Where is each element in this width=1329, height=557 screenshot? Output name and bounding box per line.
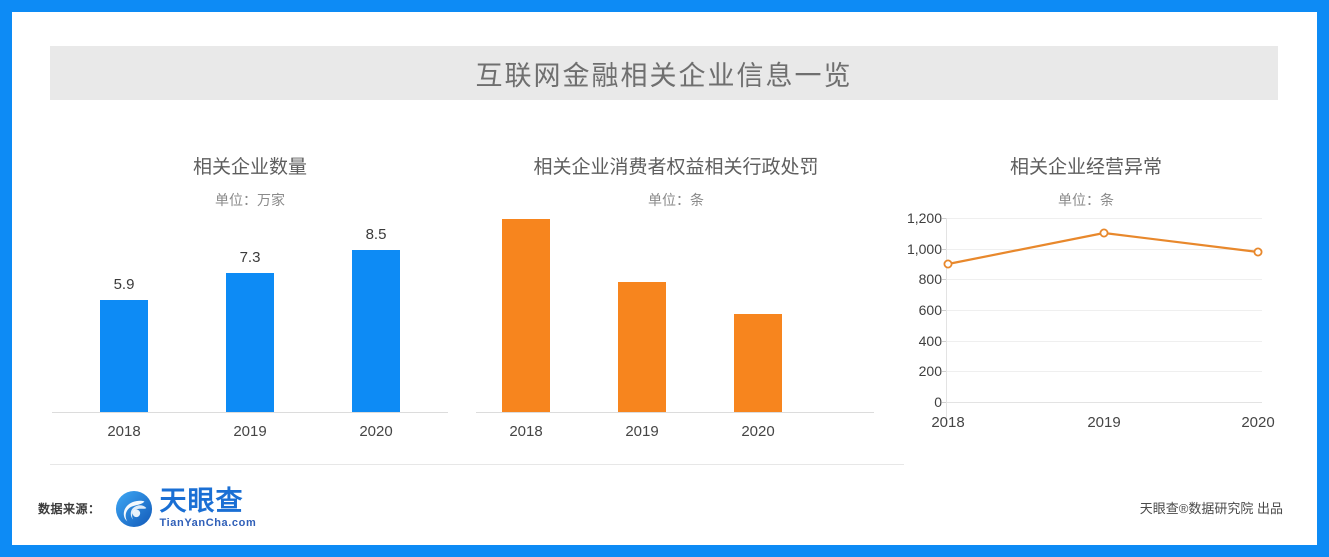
chart-1-x-label-2020: 2020	[346, 423, 406, 440]
source-label: 数据来源：	[38, 500, 101, 517]
frame-border-right	[1317, 0, 1329, 557]
chart-1-subtitle: 单位：万家	[34, 190, 466, 210]
frame-border-top	[0, 0, 1329, 12]
chart-2-subtitle: 单位：条	[466, 190, 886, 210]
chart-1-bar-2020[interactable]	[352, 250, 400, 412]
chart-2-x-label-2019: 2019	[612, 423, 672, 440]
chart-1-x-label-2019: 2019	[220, 423, 280, 440]
frame-border-bottom	[0, 545, 1329, 557]
footer: 数据来源：	[12, 480, 1317, 535]
chart-panel-enterprise-count: 相关企业数量 单位：万家 5.9 7.3 8.5 2018 2019 2020	[34, 122, 466, 452]
tianyancha-logo-icon	[115, 490, 153, 528]
chart-1-bar-2019[interactable]	[226, 273, 274, 412]
chart-1-bar-2018[interactable]	[100, 300, 148, 412]
chart-3-x-label-2019: 2019	[1074, 414, 1134, 431]
footer-divider	[50, 464, 904, 465]
chart-3-x-label-2018: 2018	[918, 414, 978, 431]
chart-2-x-label-2020: 2020	[728, 423, 788, 440]
page-title: 互联网金融相关企业信息一览	[476, 54, 853, 93]
chart-1-value-label-2019: 7.3	[220, 249, 280, 266]
poster-inner: 互联网金融相关企业信息一览 相关企业数量 单位：万家 5.9 7.3 8.5 2…	[12, 12, 1317, 545]
chart-2-axis-line	[476, 412, 874, 413]
chart-1-value-label-2018: 5.9	[94, 276, 154, 293]
chart-3-line-series	[886, 218, 1286, 418]
tianyancha-logo[interactable]: 天眼查 TianYanCha.com	[115, 488, 257, 529]
chart-3-plot: 1,200 1,000 800 600 400 200 0 2018	[886, 218, 1286, 450]
chart-3-subtitle: 单位：条	[886, 190, 1286, 210]
chart-1-title: 相关企业数量	[34, 152, 466, 179]
chart-1-value-label-2020: 8.5	[346, 226, 406, 243]
poster-canvas: 互联网金融相关企业信息一览 相关企业数量 单位：万家 5.9 7.3 8.5 2…	[0, 0, 1329, 557]
logo-text: 天眼查 TianYanCha.com	[160, 488, 257, 529]
chart-panel-business-anomalies: 相关企业经营异常 单位：条	[886, 122, 1286, 452]
logo-text-en: TianYanCha.com	[160, 517, 257, 529]
chart-3-x-label-2020: 2020	[1228, 414, 1288, 431]
chart-1-axis-line	[52, 412, 448, 413]
chart-1-x-label-2018: 2018	[94, 423, 154, 440]
chart-2-bar-2018[interactable]	[502, 219, 550, 412]
header-band: 互联网金融相关企业信息一览	[50, 46, 1278, 100]
charts-row: 相关企业数量 单位：万家 5.9 7.3 8.5 2018 2019 2020	[12, 122, 1317, 452]
footer-source: 数据来源：	[38, 488, 256, 529]
frame-border-left	[0, 0, 12, 557]
chart-2-bar-2020[interactable]	[734, 314, 782, 412]
chart-panel-consumer-penalties: 相关企业消费者权益相关行政处罚 单位：条 2018 2019 2020	[466, 122, 886, 452]
chart-3-title: 相关企业经营异常	[886, 152, 1286, 179]
chart-2-bar-2019[interactable]	[618, 282, 666, 412]
footer-credit: 天眼查®数据研究院 出品	[1140, 498, 1283, 517]
logo-text-cn: 天眼查	[160, 488, 257, 515]
chart-2-x-label-2018: 2018	[496, 423, 556, 440]
chart-1-plot: 5.9 7.3 8.5 2018 2019 2020	[34, 220, 466, 450]
chart-2-plot: 2018 2019 2020	[466, 220, 886, 450]
chart-2-title: 相关企业消费者权益相关行政处罚	[466, 152, 886, 179]
